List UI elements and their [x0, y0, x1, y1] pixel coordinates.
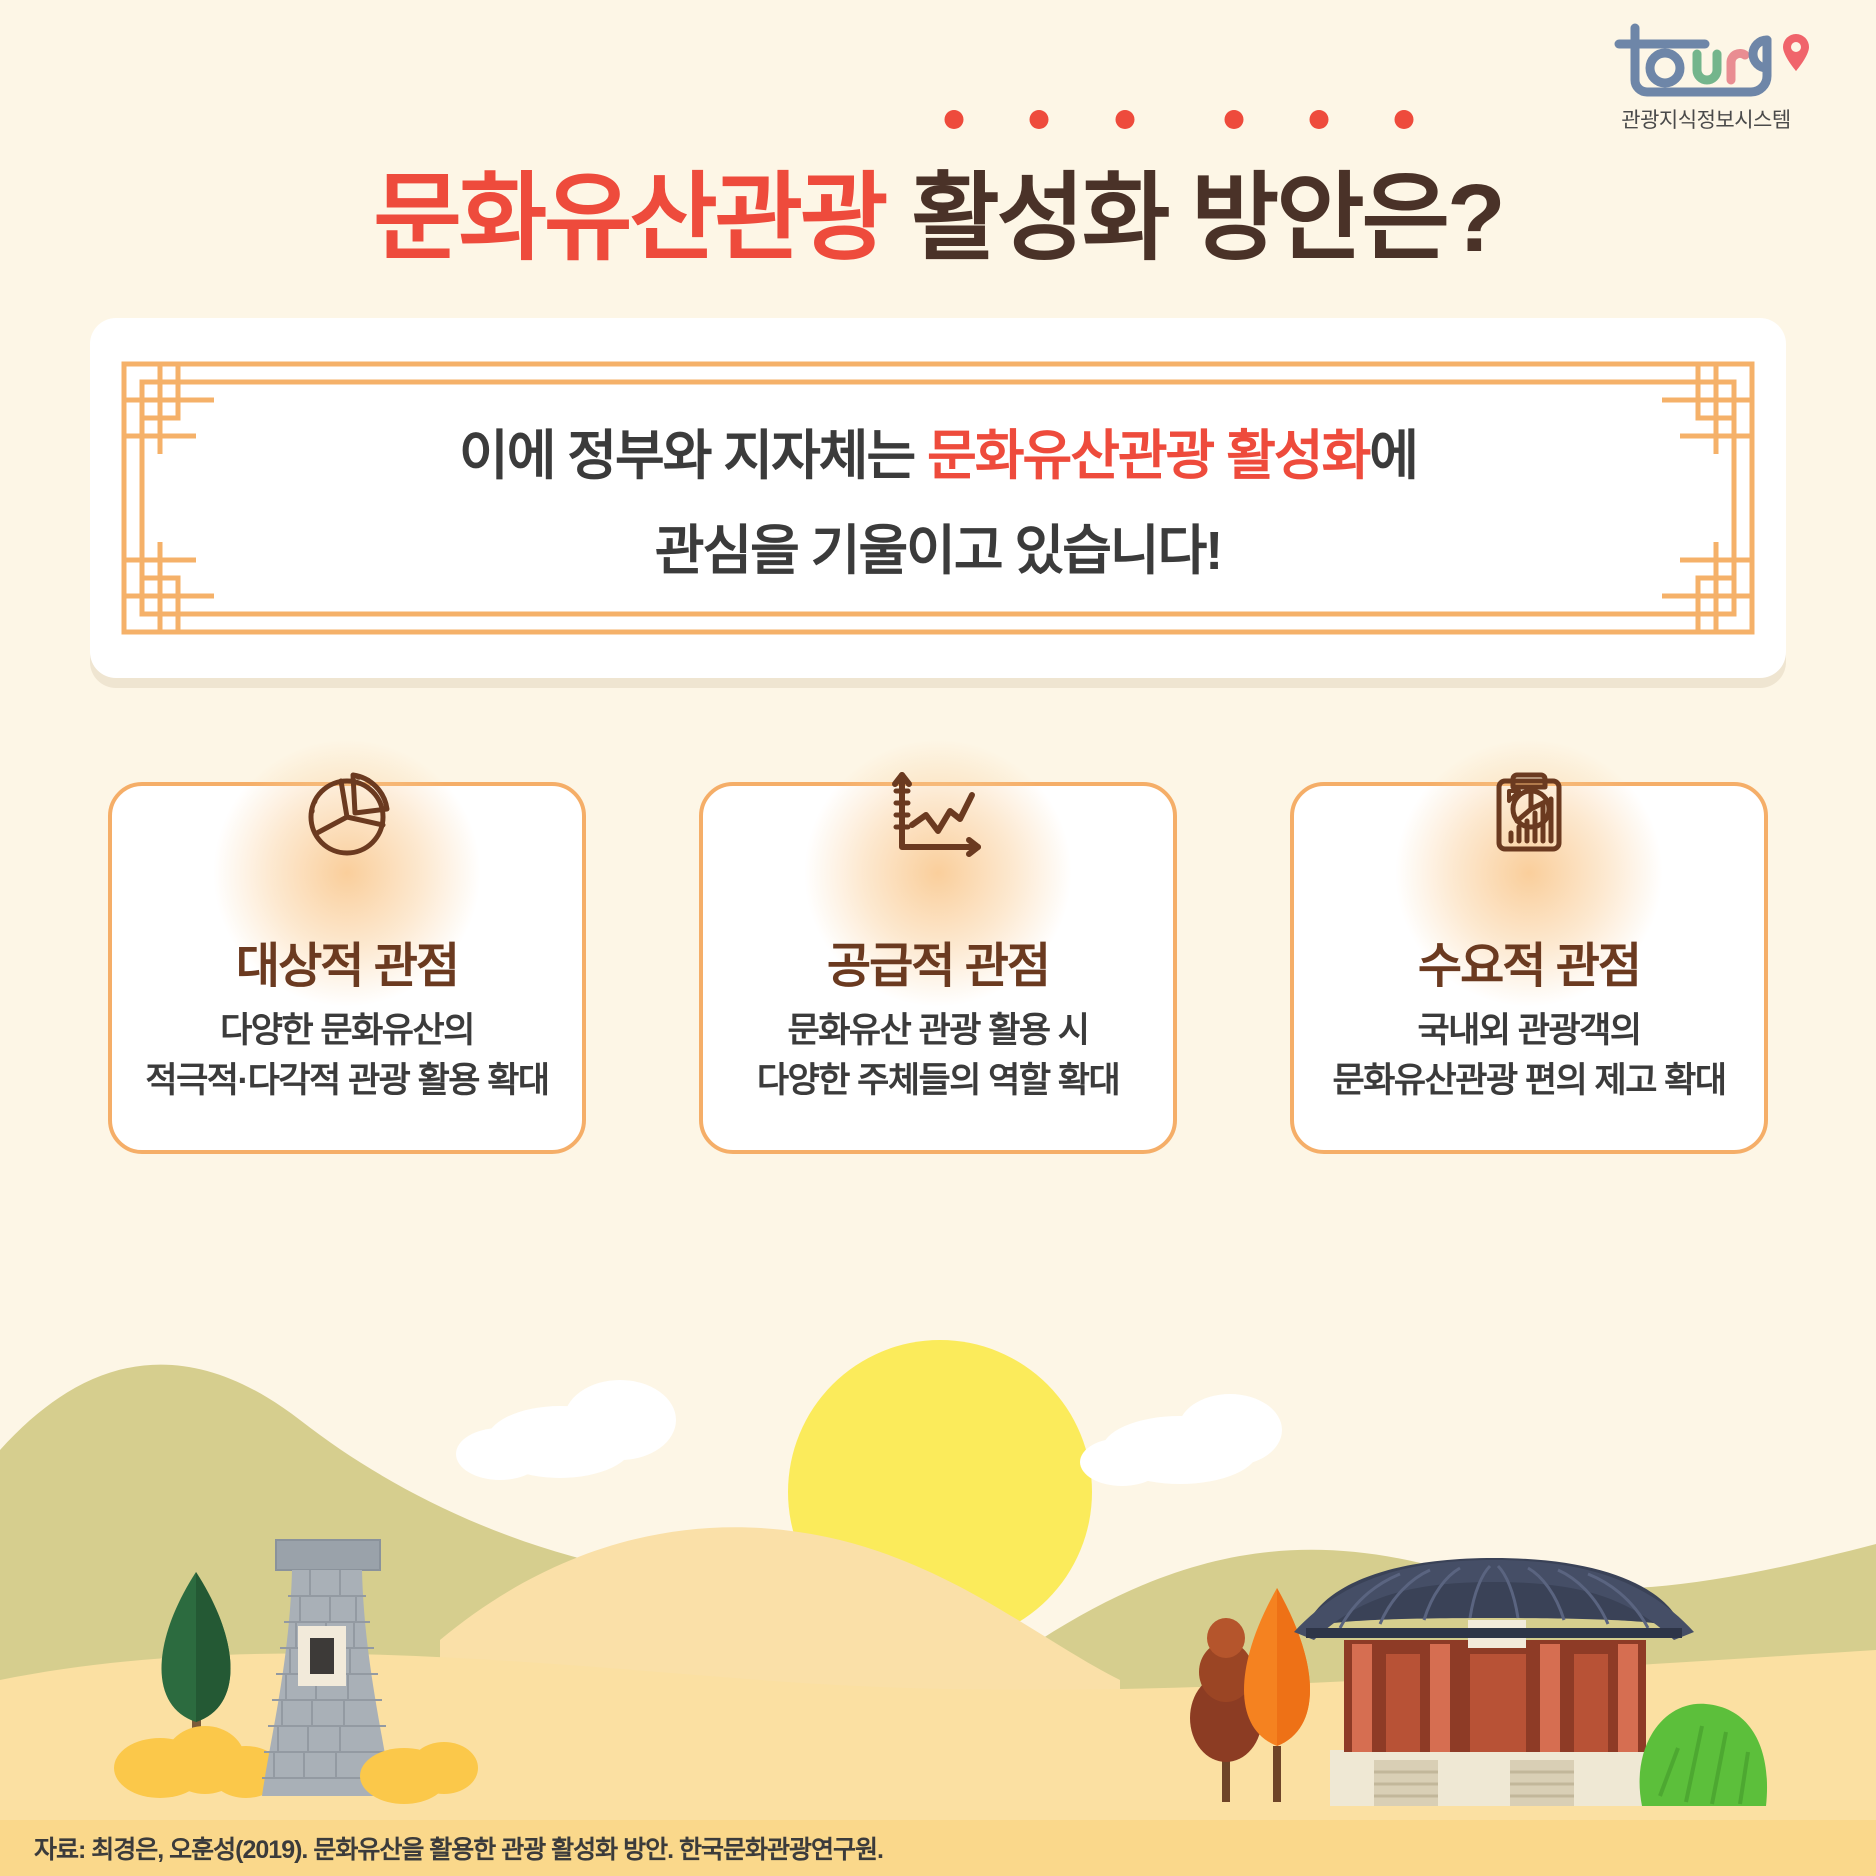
- message-banner: 이에 정부와 지자체는 문화유산관광 활성화에 관심을 기울이고 있습니다!: [90, 318, 1786, 678]
- cloud-left: [456, 1380, 676, 1480]
- card-body-line-1: 국내외 관광객의: [1417, 1011, 1640, 1050]
- card-title: 수요적 관점: [1294, 926, 1764, 996]
- page-title: 문화유산관광활성화 방안은?: [0, 140, 1876, 279]
- site-logo: 관광지식정보시스템: [1576, 18, 1836, 134]
- source-text: 자료: 최경은, 오훈성(2019). 문화유산을 활용한 관광 활성화 방안.…: [0, 1830, 883, 1866]
- card-body: 국내외 관광객의 문화유산관광 편의 제고 확대: [1294, 1006, 1764, 1105]
- title-rest: 활성화 방안은?: [911, 140, 1502, 279]
- cloud-right: [1080, 1394, 1282, 1486]
- title-char: 활: [911, 140, 996, 279]
- title-char: [1167, 164, 1191, 274]
- title-char: 성: [997, 140, 1082, 279]
- banner-text-before: 이에 정부와 지자체는: [459, 426, 927, 486]
- source-footer: 자료: 최경은, 오훈성(2019). 문화유산을 활용한 관광 활성화 방안.…: [0, 1820, 1876, 1876]
- banner-text-after: 에: [1369, 426, 1417, 486]
- perspective-card-list: 대상적 관점 다양한 문화유산의 적극적·다각적 관광 활용 확대 공급적 관점…: [108, 782, 1768, 1154]
- perspective-card-target[interactable]: 대상적 관점 다양한 문화유산의 적극적·다각적 관광 활용 확대: [108, 782, 586, 1154]
- logo-caption: 관광지식정보시스템: [1576, 104, 1836, 134]
- card-body: 문화유산 관광 활용 시 다양한 주체들의 역할 확대: [703, 1006, 1173, 1105]
- title-char: 방: [1191, 140, 1276, 279]
- card-body-line-1: 문화유산 관광 활용 시: [788, 1011, 1089, 1050]
- hanok-pavilion: [1294, 1558, 1694, 1806]
- pie-chart-icon: [292, 758, 402, 868]
- landscape-illustration: [0, 1120, 1876, 1820]
- title-char: 화: [1082, 140, 1167, 279]
- title-char: ?: [1447, 164, 1503, 274]
- card-body-line-2: 적극적·다각적 관광 활용 확대: [145, 1061, 548, 1100]
- banner-line-2: 관심을 기울이고 있습니다!: [655, 506, 1221, 585]
- title-char: 안: [1276, 140, 1361, 279]
- card-body-line-1: 다양한 문화유산의: [220, 1011, 474, 1050]
- title-char: 은: [1362, 140, 1447, 279]
- clipboard-report-icon: [1474, 758, 1584, 868]
- card-body: 다양한 문화유산의 적극적·다각적 관광 활용 확대: [112, 1006, 582, 1105]
- card-body-line-2: 다양한 주체들의 역할 확대: [757, 1061, 1119, 1100]
- card-title: 공급적 관점: [703, 926, 1173, 996]
- perspective-card-demand[interactable]: 수요적 관점 국내외 관광객의 문화유산관광 편의 제고 확대: [1290, 782, 1768, 1154]
- tour9-wordmark-icon: [1576, 18, 1836, 100]
- perspective-card-supply[interactable]: 공급적 관점 문화유산 관광 활용 시 다양한 주체들의 역할 확대: [699, 782, 1177, 1154]
- title-highlight: 문화유산관광: [373, 140, 885, 279]
- banner-line-1: 이에 정부와 지자체는 문화유산관광 활성화에: [459, 411, 1417, 490]
- line-chart-icon: [883, 758, 993, 868]
- card-title: 대상적 관점: [112, 926, 582, 996]
- card-body-line-2: 문화유산관광 편의 제고 확대: [1332, 1061, 1725, 1100]
- banner-text-highlight: 문화유산관광 활성화: [927, 426, 1369, 486]
